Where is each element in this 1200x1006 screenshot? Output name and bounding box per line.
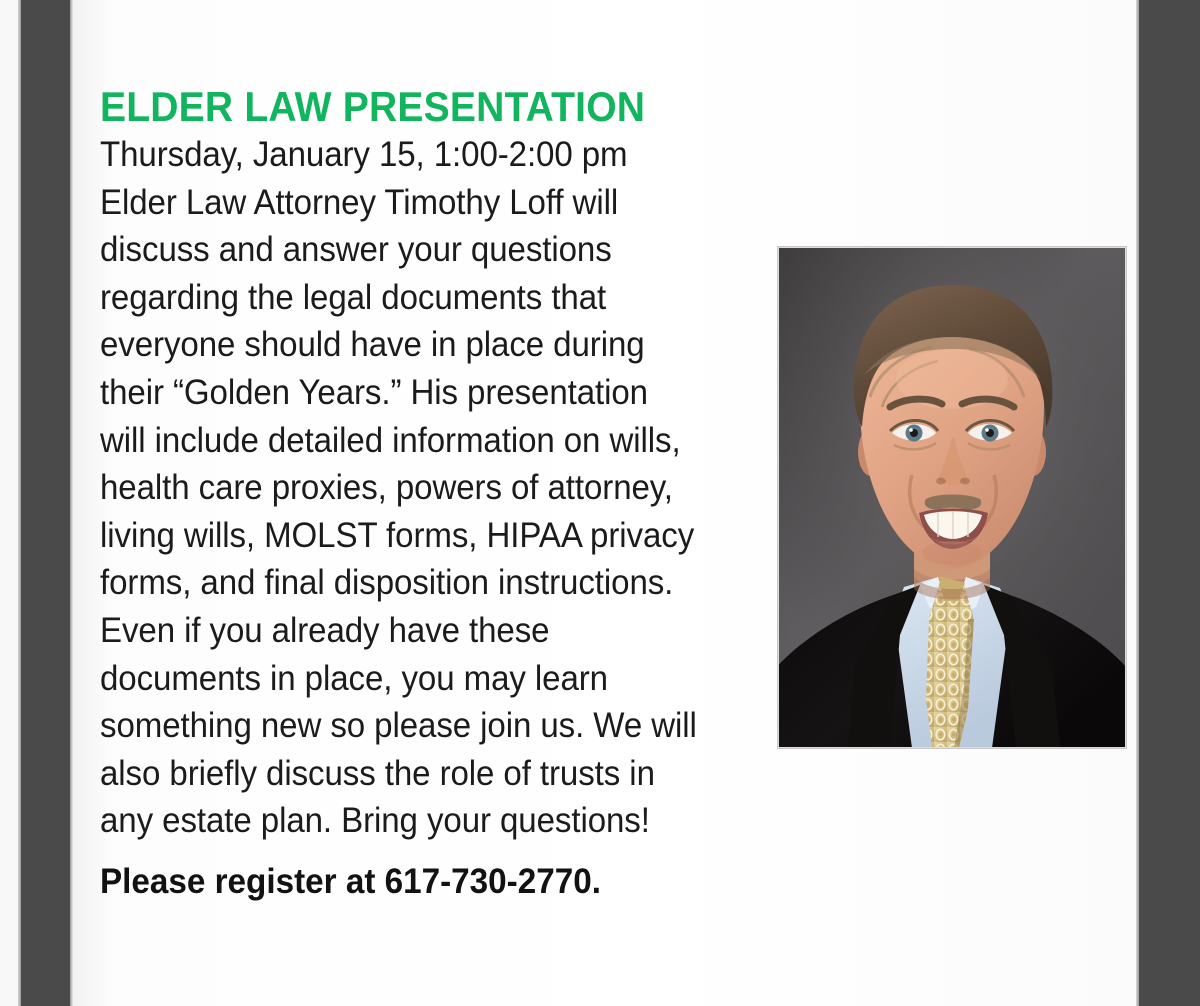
right-gutter-outer-edge: [1136, 0, 1139, 1006]
body-line: will include detailed information on wil…: [100, 417, 724, 465]
flyer-page: ELDER LAW PRESENTATION Thursday, January…: [0, 0, 1200, 1006]
body-paragraph: Thursday, January 15, 1:00-2:00 pm Elder…: [100, 131, 724, 845]
body-line: discuss and answer your questions: [100, 226, 724, 274]
page-title: ELDER LAW PRESENTATION: [100, 86, 645, 128]
portrait-illustration: [778, 247, 1126, 748]
left-dark-gutter: [21, 0, 70, 1006]
body-line: regarding the legal documents that: [100, 274, 724, 322]
body-line: living wills, MOLST forms, HIPAA privacy: [100, 512, 724, 560]
body-line: Even if you already have these: [100, 607, 724, 655]
content-sheet: ELDER LAW PRESENTATION Thursday, January…: [73, 0, 1136, 1006]
flyer-content: ELDER LAW PRESENTATION Thursday, January…: [100, 0, 1110, 1006]
body-line: health care proxies, powers of attorney,: [100, 464, 724, 512]
body-line: Elder Law Attorney Timothy Loff will: [100, 179, 724, 227]
mustache: [925, 495, 981, 510]
speaker-portrait-photo: [778, 247, 1126, 748]
left-gutter-outer-edge: [18, 0, 21, 1006]
body-line: everyone should have in place during: [100, 321, 724, 369]
body-line: forms, and final disposition instruction…: [100, 559, 724, 607]
body-line: documents in place, you may learn: [100, 655, 724, 703]
registration-callout: Please register at 617-730-2770.: [100, 860, 601, 904]
body-line: also briefly discuss the role of trusts …: [100, 750, 724, 798]
body-line: Thursday, January 15, 1:00-2:00 pm: [100, 131, 724, 179]
body-line: their “Golden Years.” His presentation: [100, 369, 724, 417]
body-line: any estate plan. Bring your questions!: [100, 797, 724, 845]
body-line: something new so please join us. We will: [100, 702, 724, 750]
right-dark-gutter: [1139, 0, 1200, 1006]
